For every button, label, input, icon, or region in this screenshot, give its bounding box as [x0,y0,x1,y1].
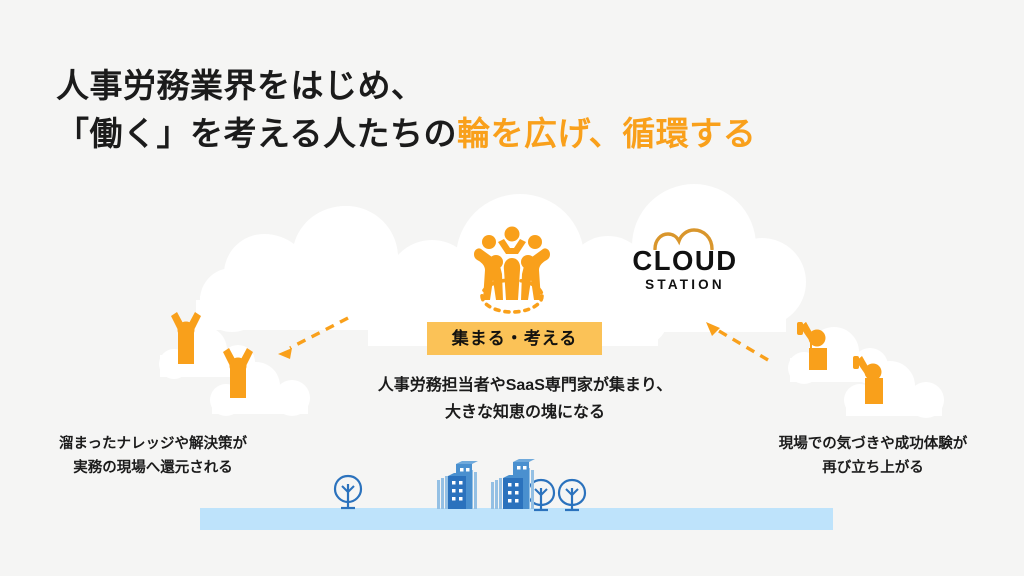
title-line-2-accent: 輪を広げ、循環する [457,115,756,152]
caption-right-line-1: 現場での気づきや成功体験が [728,432,1018,456]
caption-left-line-1: 溜まったナレッジや解決策が [8,432,298,456]
slide-canvas: 人事労務業界をはじめ、 「働く」を考える人たちの輪を広げ、循環する [0,0,1024,576]
title-line-2: 「働く」を考える人たちの輪を広げ、循環する [56,110,956,158]
cloudstation-wordmark: CLOUD [620,246,750,276]
ground-bar [200,508,833,530]
center-badge: 集まる・考える [427,322,602,355]
cloud-group-right [788,322,944,418]
logo-lockup: CLOUD STATION [462,218,762,318]
title-line-2-plain: 「働く」を考える人たちの [56,115,457,152]
tree-3 [559,480,585,510]
building-group-1 [437,461,478,509]
caption-left: 溜まったナレッジや解決策が 実務の現場へ還元される [8,432,298,480]
building-group-2 [491,459,535,509]
slide-title: 人事労務業界をはじめ、 「働く」を考える人たちの輪を広げ、循環する [56,62,956,158]
caption-center: 人事労務担当者やSaaS専門家が集まり、 大きな知恵の塊になる [332,372,718,426]
people-circle-emblem [462,218,562,318]
tree-1 [335,476,361,508]
cloudstation-logo: CLOUD STATION [620,228,750,298]
caption-left-line-2: 実務の現場へ還元される [8,456,298,480]
cloud-arc-icon [653,228,715,250]
caption-center-line-1: 人事労務担当者やSaaS専門家が集まり、 [332,372,718,399]
caption-center-line-2: 大きな知恵の塊になる [332,399,718,426]
cloudstation-subword: STATION [620,277,750,293]
caption-right: 現場での気づきや成功体験が 再び立ち上がる [728,432,1018,480]
title-line-1: 人事労務業界をはじめ、 [56,62,956,110]
center-badge-label: 集まる・考える [452,329,578,349]
caption-right-line-2: 再び立ち上がる [728,456,1018,480]
